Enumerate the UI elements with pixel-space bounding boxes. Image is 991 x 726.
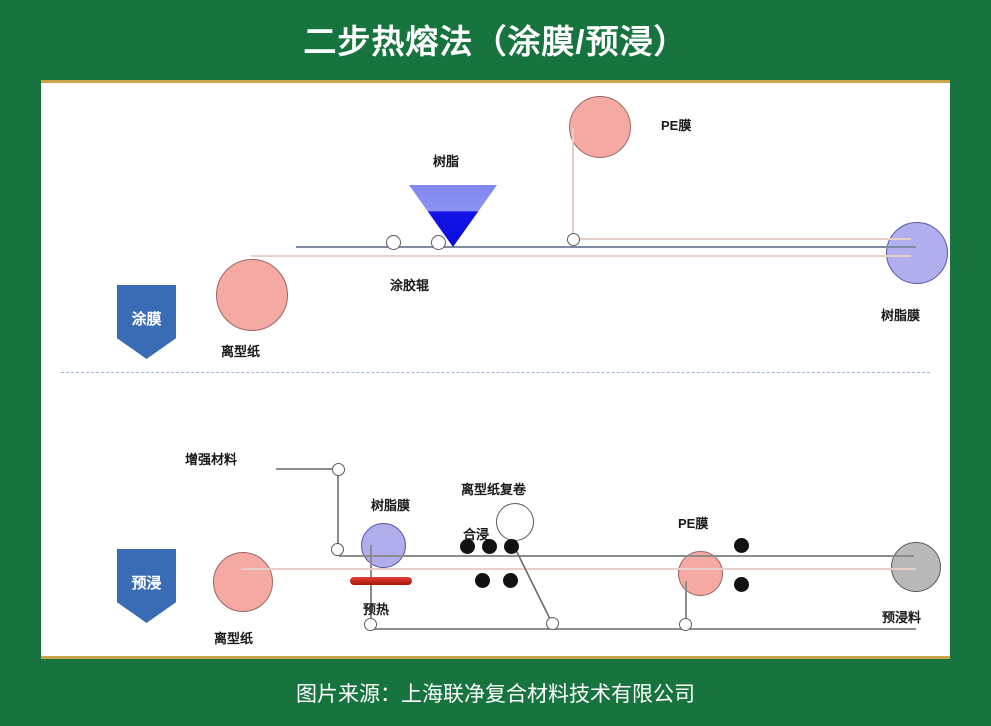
web-resin-film-horizontal — [371, 628, 916, 630]
page-title: 二步热熔法（涂膜/预浸） — [303, 15, 687, 63]
resin-film-roll-top — [886, 222, 948, 284]
label-resin-film-bottom: 树脂膜 — [371, 495, 410, 514]
reinforcement-guide-roller-top — [332, 463, 345, 476]
pe-film-guide-roller-top — [567, 233, 580, 246]
label-pe-film-top: PE膜 — [661, 115, 691, 134]
diagram-panel: 涂膜 离型纸 树脂 涂胶辊 PE膜 树脂膜 — [41, 80, 950, 659]
impregnation-dot-top-3 — [504, 539, 519, 554]
section-divider — [61, 372, 930, 373]
resin-funnel — [409, 185, 497, 247]
web-release-paper-bottom — [241, 568, 916, 570]
web-reinforcement-to-nip — [339, 555, 914, 557]
label-pe-film-bottom: PE膜 — [678, 513, 708, 532]
resin-film-roll-bottom — [361, 523, 406, 568]
consolidation-dot-top — [734, 538, 749, 553]
title-bar: 二步热熔法（涂膜/预浸） — [0, 0, 991, 78]
label-release-paper-rewind: 离型纸复卷 — [461, 479, 526, 498]
release-paper-rewind-guide-roller — [546, 617, 559, 630]
pe-film-guide-roller-bottom — [679, 618, 692, 631]
label-prepreg: 预浸料 — [882, 607, 921, 626]
reinforcement-guide-roller-bottom — [331, 543, 344, 556]
web-reinforcement-horizontal — [276, 468, 338, 470]
label-release-paper-bottom: 离型纸 — [214, 628, 253, 647]
section-banner-coating-label: 涂膜 — [131, 308, 161, 329]
web-pe-film-horizontal-top — [579, 238, 911, 240]
release-paper-rewind-path — [41, 83, 950, 656]
release-paper-roll-bottom — [213, 552, 273, 612]
web-release-paper-top — [251, 255, 911, 257]
prepreg-roll — [891, 542, 941, 592]
web-pe-film-vertical-top — [572, 128, 574, 240]
coating-roller-right — [431, 235, 446, 250]
label-resin-film-top: 树脂膜 — [881, 305, 920, 324]
footer-bar: 图片来源：上海联净复合材料技术有限公司 — [0, 660, 991, 726]
impregnation-dot-bottom-2 — [503, 573, 518, 588]
label-reinforcement-material: 增强材料 — [185, 449, 237, 468]
release-paper-rewind-roll — [496, 503, 534, 541]
label-coating-roller: 涂胶辊 — [390, 275, 429, 294]
section-banner-prepreg-label: 预浸 — [131, 572, 161, 593]
release-paper-roll-top — [216, 259, 288, 331]
consolidation-dot-bottom — [734, 577, 749, 592]
impregnation-dot-bottom-1 — [475, 573, 490, 588]
source-attribution: 图片来源：上海联净复合材料技术有限公司 — [296, 678, 695, 708]
label-resin-top: 树脂 — [433, 151, 459, 170]
coating-roller-left — [386, 235, 401, 250]
label-preheat: 预热 — [363, 599, 389, 618]
resin-film-guide-roller — [364, 618, 377, 631]
label-impregnation: 合浸 — [463, 524, 489, 543]
pe-film-roll-top — [569, 96, 631, 158]
diagram-canvas: 涂膜 离型纸 树脂 涂胶辊 PE膜 树脂膜 — [41, 83, 950, 656]
label-release-paper-top: 离型纸 — [221, 341, 260, 360]
section-banner-coating: 涂膜 — [117, 285, 176, 359]
preheat-bar — [350, 577, 412, 585]
web-reinforcement-vertical — [337, 471, 339, 551]
section-banner-prepreg: 预浸 — [117, 549, 176, 623]
slide-root: 二步热熔法（涂膜/预浸） 涂膜 离型纸 树脂 涂胶辊 — [0, 0, 991, 726]
